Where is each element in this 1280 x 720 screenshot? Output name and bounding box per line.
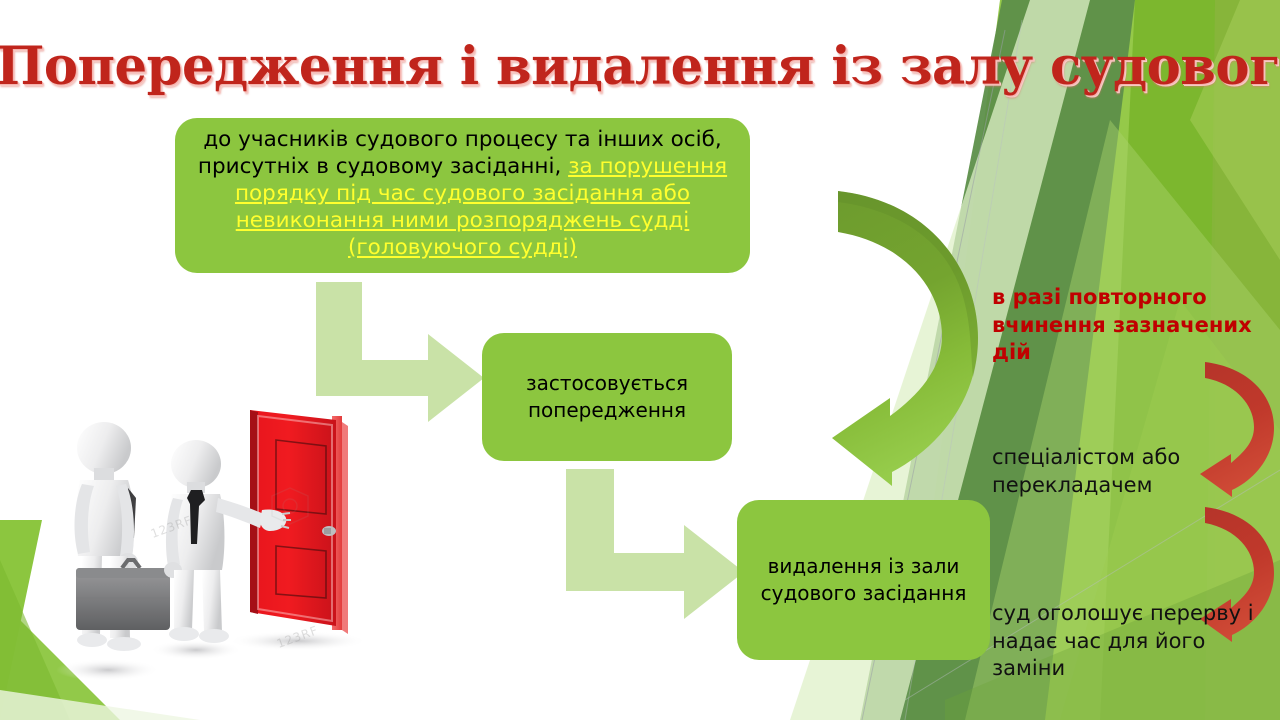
two-figures-red-door-illustration [36, 398, 396, 698]
removal-box: видалення із зали судового засідання [737, 500, 990, 660]
caption-specialist-translator: спеціалістом або перекладачем [992, 444, 1280, 499]
elbow-arrow-down-right-icon-2 [566, 469, 746, 619]
caption-repeat-offence: в разі повторного вчинення зазначених ді… [992, 284, 1280, 367]
slide-title: Попередження і видалення із залу судовог… [0, 38, 1267, 96]
slide-canvas: Попередження і видалення із залу судовог… [0, 0, 1280, 720]
curved-arrow-green-icon [826, 186, 986, 491]
warning-box: застосовується попередження [482, 333, 732, 461]
caption-court-recess: суд оголошує перерву і надає час для йог… [992, 600, 1280, 683]
conditions-box: до учасників судового процесу та інших о… [175, 118, 750, 273]
